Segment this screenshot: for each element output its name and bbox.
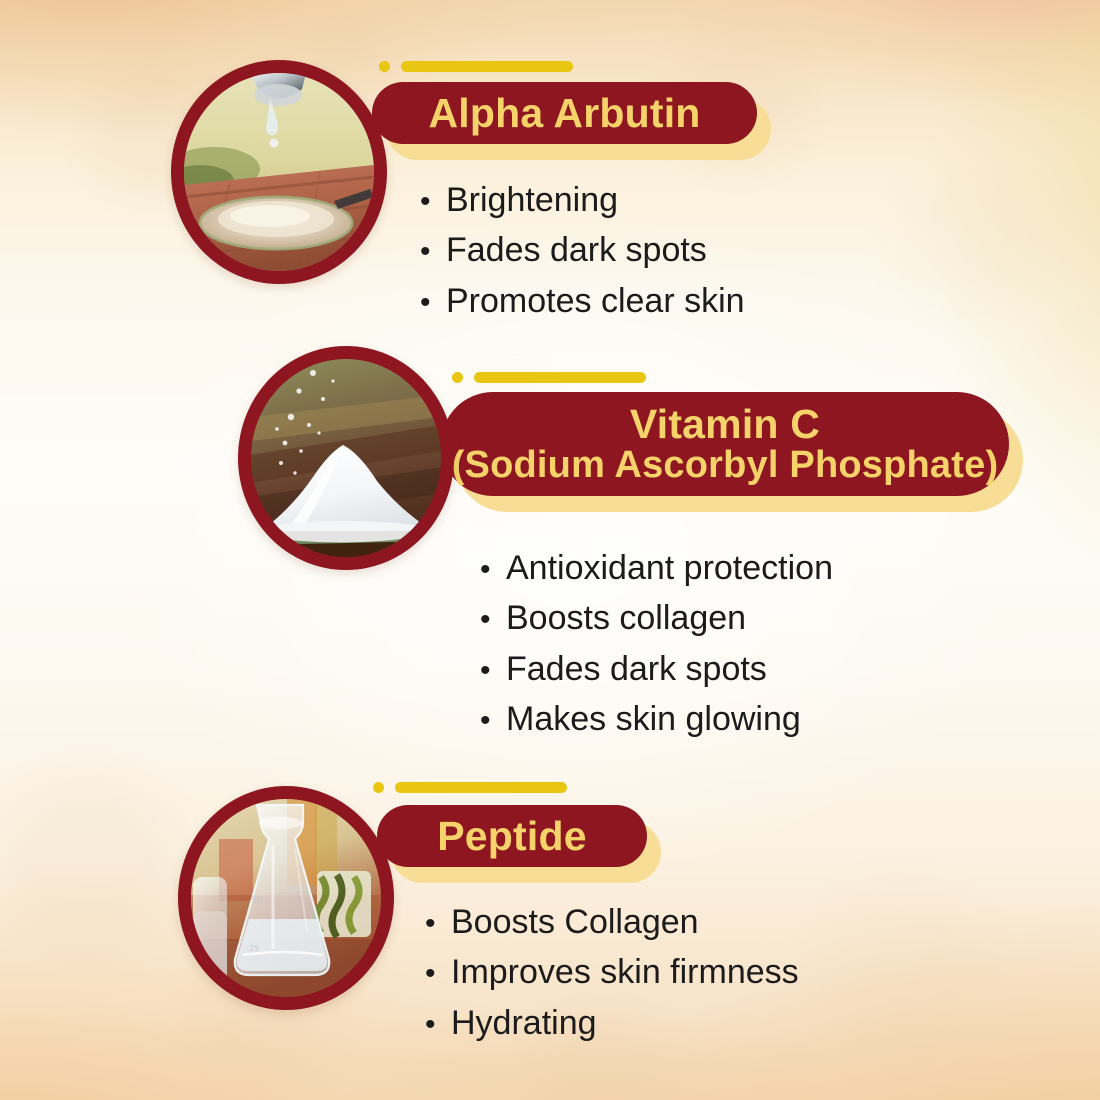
benefit-text: Boosts collagen: [506, 593, 746, 643]
benefit-text: Fades dark spots: [446, 225, 707, 275]
bullet-marker-icon: •: [480, 555, 506, 585]
ingredient-title-line1: Vitamin C: [452, 403, 999, 446]
ingredient-photo-medallion-alpha-arbutin: [171, 60, 387, 284]
bullet-marker-icon: •: [425, 1010, 451, 1040]
accent-dash-icon-peptide: [395, 782, 567, 793]
badge-surface: Alpha Arbutin: [372, 82, 757, 144]
list-item: • Boosts Collagen: [425, 897, 799, 947]
erlenmeyer-flask-clear-liquid-photo: 50 25: [191, 799, 381, 997]
ingredient-title-vitamin-c: Vitamin C (Sodium Ascorbyl Phosphate): [452, 403, 999, 485]
list-item: • Antioxidant protection: [480, 543, 833, 593]
benefit-text: Improves skin firmness: [451, 947, 799, 997]
bullet-marker-icon: •: [420, 237, 446, 267]
bullet-marker-icon: •: [425, 909, 451, 939]
bullet-marker-icon: •: [480, 605, 506, 635]
accent-dot-icon-vitamin-c: [452, 372, 463, 383]
benefit-text: Promotes clear skin: [446, 276, 745, 326]
list-item: • Makes skin glowing: [480, 694, 833, 744]
benefit-text: Makes skin glowing: [506, 694, 801, 744]
benefit-text: Boosts Collagen: [451, 897, 699, 947]
list-item: • Hydrating: [425, 998, 799, 1048]
list-item: • Improves skin firmness: [425, 947, 799, 997]
list-item: • Promotes clear skin: [420, 276, 745, 326]
accent-dash-icon-alpha-arbutin: [401, 61, 573, 72]
ingredient-title-line2: (Sodium Ascorbyl Phosphate): [452, 446, 999, 486]
ingredient-benefits-infographic: Alpha Arbutin • Brightening • Fades dark…: [0, 0, 1100, 1100]
white-powder-mound-photo: [251, 359, 441, 557]
ingredient-title-badge-vitamin-c: Vitamin C (Sodium Ascorbyl Phosphate): [441, 392, 1009, 496]
accent-dot-icon-alpha-arbutin: [379, 61, 390, 72]
list-item: • Fades dark spots: [420, 225, 745, 275]
bullet-marker-icon: •: [420, 288, 446, 318]
benefit-list-peptide: • Boosts Collagen • Improves skin firmne…: [425, 897, 799, 1048]
ingredient-title-badge-alpha-arbutin: Alpha Arbutin: [372, 82, 757, 144]
ingredient-title-line1: Alpha Arbutin: [428, 92, 700, 135]
serum-dropper-petri-dish-photo: [184, 73, 374, 271]
ingredient-title-peptide: Peptide: [437, 815, 587, 858]
ingredient-photo-medallion-vitamin-c: [238, 346, 454, 570]
badge-surface: Vitamin C (Sodium Ascorbyl Phosphate): [441, 392, 1009, 496]
ingredient-title-line1: Peptide: [437, 815, 587, 858]
bullet-marker-icon: •: [420, 187, 446, 217]
list-item: • Fades dark spots: [480, 644, 833, 694]
ingredient-title-alpha-arbutin: Alpha Arbutin: [428, 92, 700, 135]
benefit-text: Fades dark spots: [506, 644, 767, 694]
ingredient-photo-medallion-peptide: 50 25: [178, 786, 394, 1010]
benefit-text: Brightening: [446, 175, 618, 225]
svg-text:25: 25: [249, 944, 259, 953]
benefit-list-vitamin-c: • Antioxidant protection • Boosts collag…: [480, 543, 833, 744]
accent-dot-icon-peptide: [373, 782, 384, 793]
bullet-marker-icon: •: [480, 656, 506, 686]
svg-text:50: 50: [251, 896, 263, 906]
accent-dash-icon-vitamin-c: [474, 372, 646, 383]
ingredient-title-badge-peptide: Peptide: [377, 805, 647, 867]
bullet-marker-icon: •: [425, 959, 451, 989]
badge-surface: Peptide: [377, 805, 647, 867]
list-item: • Boosts collagen: [480, 593, 833, 643]
benefit-list-alpha-arbutin: • Brightening • Fades dark spots • Promo…: [420, 175, 745, 326]
list-item: • Brightening: [420, 175, 745, 225]
benefit-text: Antioxidant protection: [506, 543, 833, 593]
benefit-text: Hydrating: [451, 998, 597, 1048]
bullet-marker-icon: •: [480, 706, 506, 736]
